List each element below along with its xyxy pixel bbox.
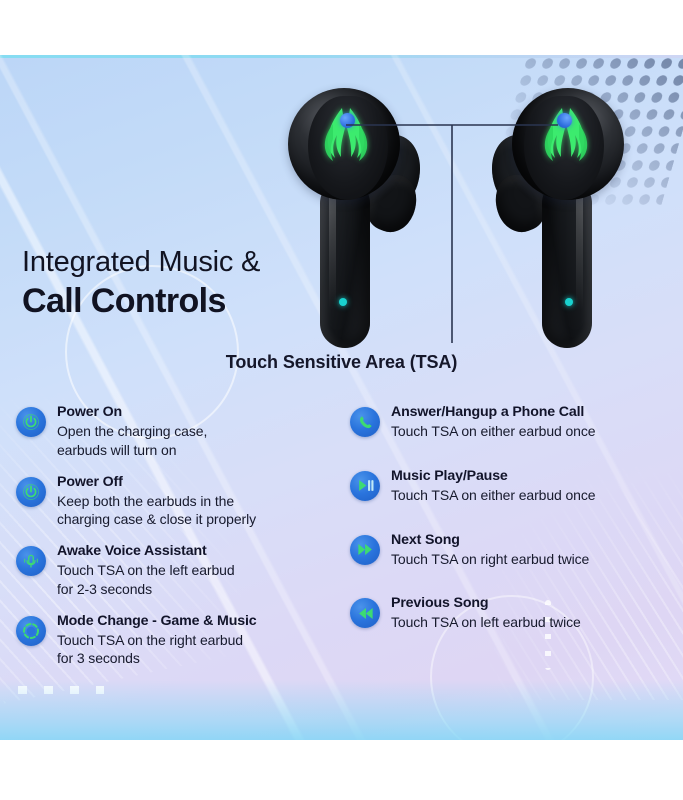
previous-track-icon xyxy=(350,598,380,628)
ear-tip xyxy=(348,126,430,217)
list-item-desc: Keep both the earbuds in the charging ca… xyxy=(57,492,256,530)
list-item-text: Power On Open the charging case, earbuds… xyxy=(57,403,207,460)
power-icon xyxy=(16,477,46,507)
list-item[interactable]: Power On Open the charging case, earbuds… xyxy=(16,403,356,460)
list-item-text: Awake Voice Assistant Touch TSA on the l… xyxy=(57,542,235,599)
list-item-desc: Touch TSA on either earbud once xyxy=(391,422,595,441)
list-item-text: Answer/Hangup a Phone Call Touch TSA on … xyxy=(391,403,595,441)
title-line-1: Integrated Music & xyxy=(22,245,352,279)
power-icon xyxy=(16,407,46,437)
list-item-text: Music Play/Pause Touch TSA on either ear… xyxy=(391,467,595,505)
page-title: Integrated Music & Call Controls xyxy=(22,245,352,321)
feature-list-right: Answer/Hangup a Phone Call Touch TSA on … xyxy=(350,403,683,658)
feature-list-left: Power On Open the charging case, earbuds… xyxy=(16,403,356,681)
tsa-callout-label: Touch Sensitive Area (TSA) xyxy=(0,352,683,373)
list-item-desc: Touch TSA on left earbud twice xyxy=(391,613,581,632)
list-item-title: Previous Song xyxy=(391,594,581,613)
list-item-title: Power Off xyxy=(57,473,256,492)
halftone-dot-pattern xyxy=(481,55,683,205)
list-item[interactable]: Power Off Keep both the earbuds in the c… xyxy=(16,473,356,530)
ear-tip-secondary xyxy=(359,167,425,239)
list-item[interactable]: Mode Change - Game & Music Touch TSA on … xyxy=(16,612,356,669)
status-led xyxy=(565,298,573,306)
list-item-title: Next Song xyxy=(391,531,589,550)
decorative-dots xyxy=(18,686,104,694)
list-item-title: Music Play/Pause xyxy=(391,467,595,486)
phone-call-icon xyxy=(350,407,380,437)
list-item[interactable]: Music Play/Pause Touch TSA on either ear… xyxy=(350,467,683,505)
next-track-icon xyxy=(350,535,380,565)
touch-sensitive-area-dot xyxy=(340,113,355,128)
infographic-canvas: Integrated Music & Call Controls xyxy=(0,0,683,800)
list-item-desc: Touch TSA on the right earbud for 3 seco… xyxy=(57,631,256,669)
list-item-desc: Touch TSA on the left earbud for 2-3 sec… xyxy=(57,561,235,599)
green-led-flame-graphic xyxy=(318,106,374,180)
list-item-title: Power On xyxy=(57,403,207,422)
list-item[interactable]: Answer/Hangup a Phone Call Touch TSA on … xyxy=(350,403,683,441)
list-item-text: Next Song Touch TSA on right earbud twic… xyxy=(391,531,589,569)
play-pause-icon xyxy=(350,471,380,501)
list-item-text: Mode Change - Game & Music Touch TSA on … xyxy=(57,612,256,669)
earbud-head xyxy=(288,88,400,200)
list-item[interactable]: Next Song Touch TSA on right earbud twic… xyxy=(350,531,683,569)
earbud-stem xyxy=(542,180,592,348)
list-item[interactable]: Previous Song Touch TSA on left earbud t… xyxy=(350,594,683,632)
list-item-desc: Touch TSA on right earbud twice xyxy=(391,550,589,569)
mode-change-ring-icon xyxy=(16,616,46,646)
list-item-title: Answer/Hangup a Phone Call xyxy=(391,403,595,422)
earbud-face xyxy=(308,96,388,200)
background-panel: Integrated Music & Call Controls xyxy=(0,55,683,740)
list-item[interactable]: Awake Voice Assistant Touch TSA on the l… xyxy=(16,542,356,599)
list-item-text: Power Off Keep both the earbuds in the c… xyxy=(57,473,256,530)
list-item-desc: Open the charging case, earbuds will tur… xyxy=(57,422,207,460)
list-item-title: Awake Voice Assistant xyxy=(57,542,235,561)
voice-assistant-microphone-icon xyxy=(16,546,46,576)
list-item-text: Previous Song Touch TSA on left earbud t… xyxy=(391,594,581,632)
title-line-2: Call Controls xyxy=(22,281,352,321)
list-item-desc: Touch TSA on either earbud once xyxy=(391,486,595,505)
list-item-title: Mode Change - Game & Music xyxy=(57,612,256,631)
